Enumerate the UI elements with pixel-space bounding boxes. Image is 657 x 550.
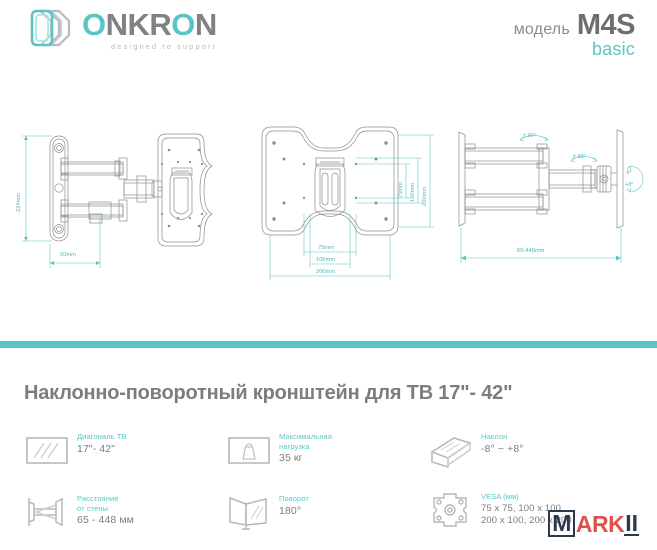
feature-value: 17"- 42": [77, 443, 127, 455]
onkron-cube-logo-icon: [28, 8, 74, 50]
feature-value: 180°: [279, 505, 309, 517]
feature-tilt: Наклон -8° ~ +8°: [428, 430, 524, 470]
tilt-icon: [428, 430, 474, 470]
dimension-extension-65-448mm: 65-448mm: [517, 248, 545, 254]
brand-name: ONKRON: [82, 10, 217, 40]
feature-value: 35 кг: [279, 452, 332, 464]
markii-logo-ii: II: [624, 512, 639, 536]
angle-tilt-max: +8°: [625, 182, 633, 188]
feature-tv-diagonal: Диагональ ТВ 17"- 42": [24, 430, 127, 470]
feature-value: -8° ~ +8°: [481, 443, 524, 455]
feature-label: Наклон: [481, 432, 524, 442]
feature-label: VESA (мм): [481, 492, 572, 502]
dimension-vesa-v-200mm: 200mm: [422, 187, 428, 206]
dimension-vesa-h-100mm: 100mm: [316, 257, 335, 263]
section-divider: [0, 341, 657, 348]
tv-screen-icon: [24, 430, 70, 470]
angle-swivel-2: ± 90°: [573, 154, 586, 160]
feature-label: Диагональ ТВ: [77, 432, 127, 442]
markii-logo-ark: ARK: [576, 513, 624, 535]
model-variant: basic: [514, 39, 635, 60]
dimension-vesa-v-100mm: 100mm: [410, 183, 416, 202]
brand-tagline: designed to support: [82, 42, 217, 51]
brand-name-nkr: NKR: [106, 7, 172, 42]
vesa-plate-icon: [428, 490, 474, 530]
markii-logo-m: M: [548, 510, 575, 537]
feature-label-2: нагрузка: [279, 442, 332, 452]
dimension-vesa-h-200mm: 200mm: [316, 269, 335, 275]
feature-wall-distance: Расстояние от стены 65 - 448 мм: [24, 492, 134, 532]
feature-label: Поворот: [279, 494, 309, 504]
feature-value: 65 - 448 мм: [77, 514, 134, 526]
brand-name-n: N: [195, 7, 217, 42]
dimension-depth-50mm: 50mm: [60, 252, 76, 258]
angle-tilt-min: -8°: [625, 170, 632, 176]
page-header: ONKRON designed to support модель M4S ba…: [0, 0, 657, 70]
page-title: Наклонно-поворотный кронштейн для ТВ 17"…: [24, 382, 639, 405]
swivel-icon: [226, 492, 272, 532]
feature-label: Максимальная: [279, 432, 332, 442]
onkron-brand-logo: ONKRON designed to support: [28, 8, 217, 51]
feature-swivel: Поворот 180°: [226, 492, 309, 532]
feature-label: Расстояние: [77, 494, 134, 504]
dimension-vesa-v-75mm: 75mm: [398, 182, 404, 198]
weight-icon: [226, 430, 272, 470]
model-label: модель: [514, 21, 570, 39]
feature-max-load: Максимальная нагрузка 35 кг: [226, 430, 332, 470]
wall-distance-icon: [24, 492, 70, 532]
model-block: модель M4S basic: [514, 9, 635, 60]
brand-name-o: O: [171, 7, 195, 42]
drawing-top-view: ± 90° ± 90° -8° +8° 65-448mm: [445, 118, 650, 283]
dimension-vesa-h-75mm: 75mm: [318, 245, 334, 251]
angle-swivel-1: ± 90°: [523, 133, 536, 139]
dimension-height-224mm: 224mm: [16, 193, 22, 212]
technical-drawings: 224mm 50mm: [0, 118, 657, 308]
feature-label-2: от стены: [77, 504, 134, 514]
model-code: M4S: [577, 9, 635, 42]
brand-name-lead-o: O: [82, 7, 106, 42]
markii-logo: MARKII: [548, 510, 639, 537]
drawing-front-view: 75mm 100mm 200mm 75mm 100mm 200mm: [252, 118, 442, 298]
drawing-side-view: 224mm 50mm: [12, 118, 242, 293]
